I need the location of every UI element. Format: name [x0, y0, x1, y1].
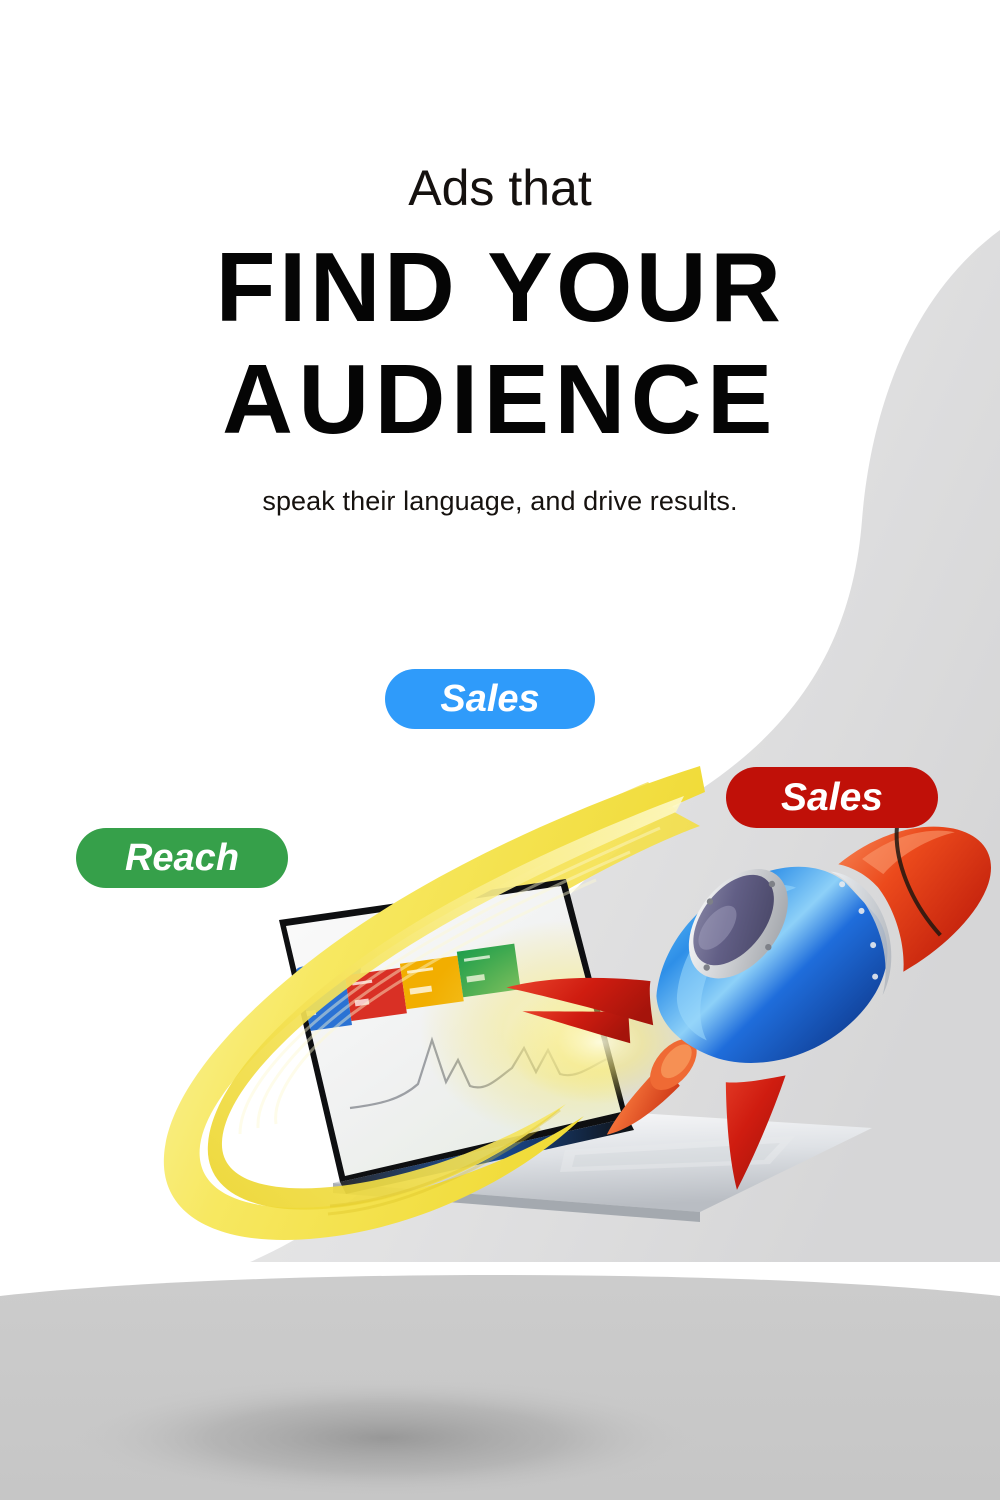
badge-sales-red[interactable]: Sales: [726, 767, 938, 828]
badge-sales-blue[interactable]: Sales: [385, 669, 595, 729]
badge-sales-red-label: Sales: [781, 776, 883, 820]
badge-sales-blue-label: Sales: [440, 678, 539, 721]
hero-illustration: [0, 0, 1000, 1500]
poster-canvas: Ads that FIND YOUR AUDIENCE speak their …: [0, 0, 1000, 1500]
badge-reach-green-label: Reach: [125, 837, 239, 880]
badge-reach-green[interactable]: Reach: [76, 828, 288, 888]
